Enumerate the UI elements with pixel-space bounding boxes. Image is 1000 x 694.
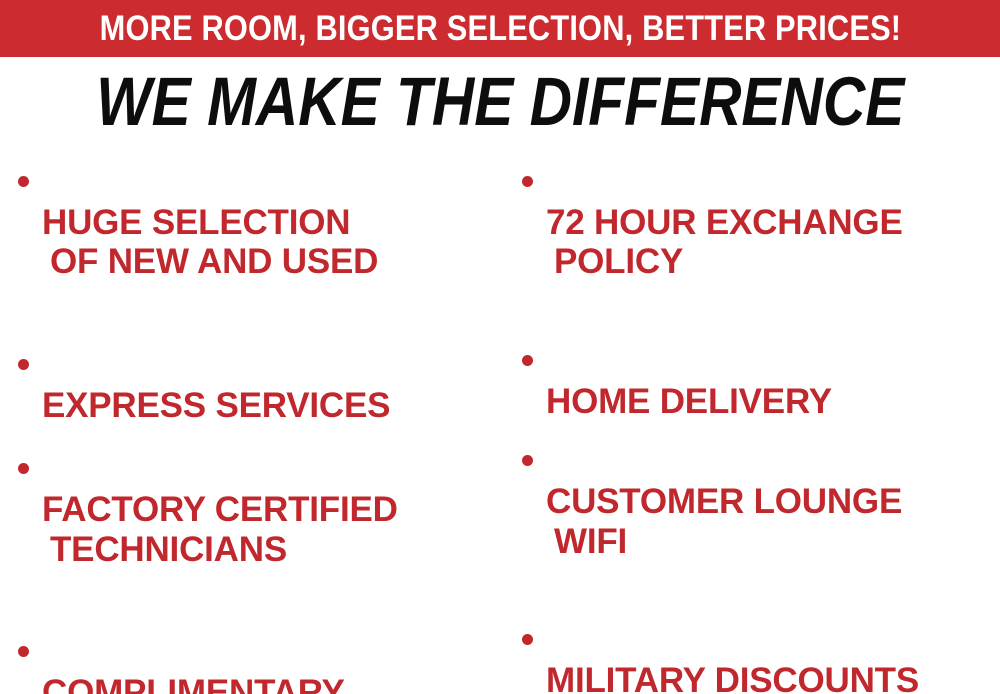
list-item-label: EXPRESS SERVICES (42, 347, 390, 425)
list-item-label: CUSTOMER LOUNGE WIFI (546, 443, 902, 600)
list-item-line-1: 72 HOUR EXCHANGE (546, 203, 903, 242)
list-item-line-1: MILITARY DISCOUNTS (546, 661, 919, 694)
list-item-label: FACTORY CERTIFIED TECHNICIANS (42, 451, 398, 608)
list-item: COMPLIMENTARY LOANER CARS (18, 634, 500, 694)
list-item-line-1: HOME DELIVERY (546, 382, 832, 421)
list-item-line-1: HUGE SELECTION (42, 203, 350, 242)
list-item-label: MILITARY DISCOUNTS (546, 622, 919, 694)
bullet-dot-icon (522, 455, 533, 466)
list-item-line-1: FACTORY CERTIFIED (42, 490, 398, 529)
list-item: FACTORY CERTIFIED TECHNICIANS (18, 451, 500, 608)
bullet-dot-icon (522, 634, 533, 645)
list-item: MILITARY DISCOUNTS (522, 622, 1000, 694)
list-item-label: COMPLIMENTARY LOANER CARS (42, 634, 345, 694)
list-item: CUSTOMER LOUNGE WIFI (522, 443, 1000, 600)
list-item: HOME DELIVERY (522, 343, 1000, 421)
list-item-line-2: TECHNICIANS (42, 530, 398, 569)
banner-headline-text: MORE ROOM, BIGGER SELECTION, BETTER PRIC… (99, 11, 901, 46)
benefits-column-right: 72 HOUR EXCHANGE POLICY HOME DELIVERY CU… (500, 150, 1000, 694)
bullet-dot-icon (522, 176, 533, 187)
list-item-line-2: OF NEW AND USED (42, 242, 378, 281)
list-item-label: 72 HOUR EXCHANGE POLICY (546, 164, 903, 321)
bullet-dot-icon (18, 646, 29, 657)
list-item-line-2: WIFI (546, 522, 902, 561)
list-item-label: HUGE SELECTION OF NEW AND USED (42, 164, 378, 321)
bullet-dot-icon (18, 176, 29, 187)
top-banner: MORE ROOM, BIGGER SELECTION, BETTER PRIC… (0, 0, 1000, 57)
bullet-dot-icon (18, 359, 29, 370)
headline-container: WE MAKE THE DIFFERENCE (0, 63, 1000, 139)
list-item-line-1: EXPRESS SERVICES (42, 386, 390, 425)
list-item: 72 HOUR EXCHANGE POLICY (522, 164, 1000, 321)
benefits-columns: HUGE SELECTION OF NEW AND USED EXPRESS S… (0, 150, 1000, 694)
list-item: EXPRESS SERVICES (18, 347, 500, 425)
bullet-dot-icon (18, 463, 29, 474)
list-item-line-1: CUSTOMER LOUNGE (546, 482, 902, 521)
list-item-label: HOME DELIVERY (546, 343, 832, 421)
bullet-dot-icon (522, 355, 533, 366)
benefits-column-left: HUGE SELECTION OF NEW AND USED EXPRESS S… (0, 150, 500, 694)
list-item: HUGE SELECTION OF NEW AND USED (18, 164, 500, 321)
page-title: WE MAKE THE DIFFERENCE (96, 67, 904, 136)
list-item-line-2: POLICY (546, 242, 903, 281)
list-item-line-1: COMPLIMENTARY (42, 673, 345, 694)
promotional-poster: MORE ROOM, BIGGER SELECTION, BETTER PRIC… (0, 0, 1000, 694)
